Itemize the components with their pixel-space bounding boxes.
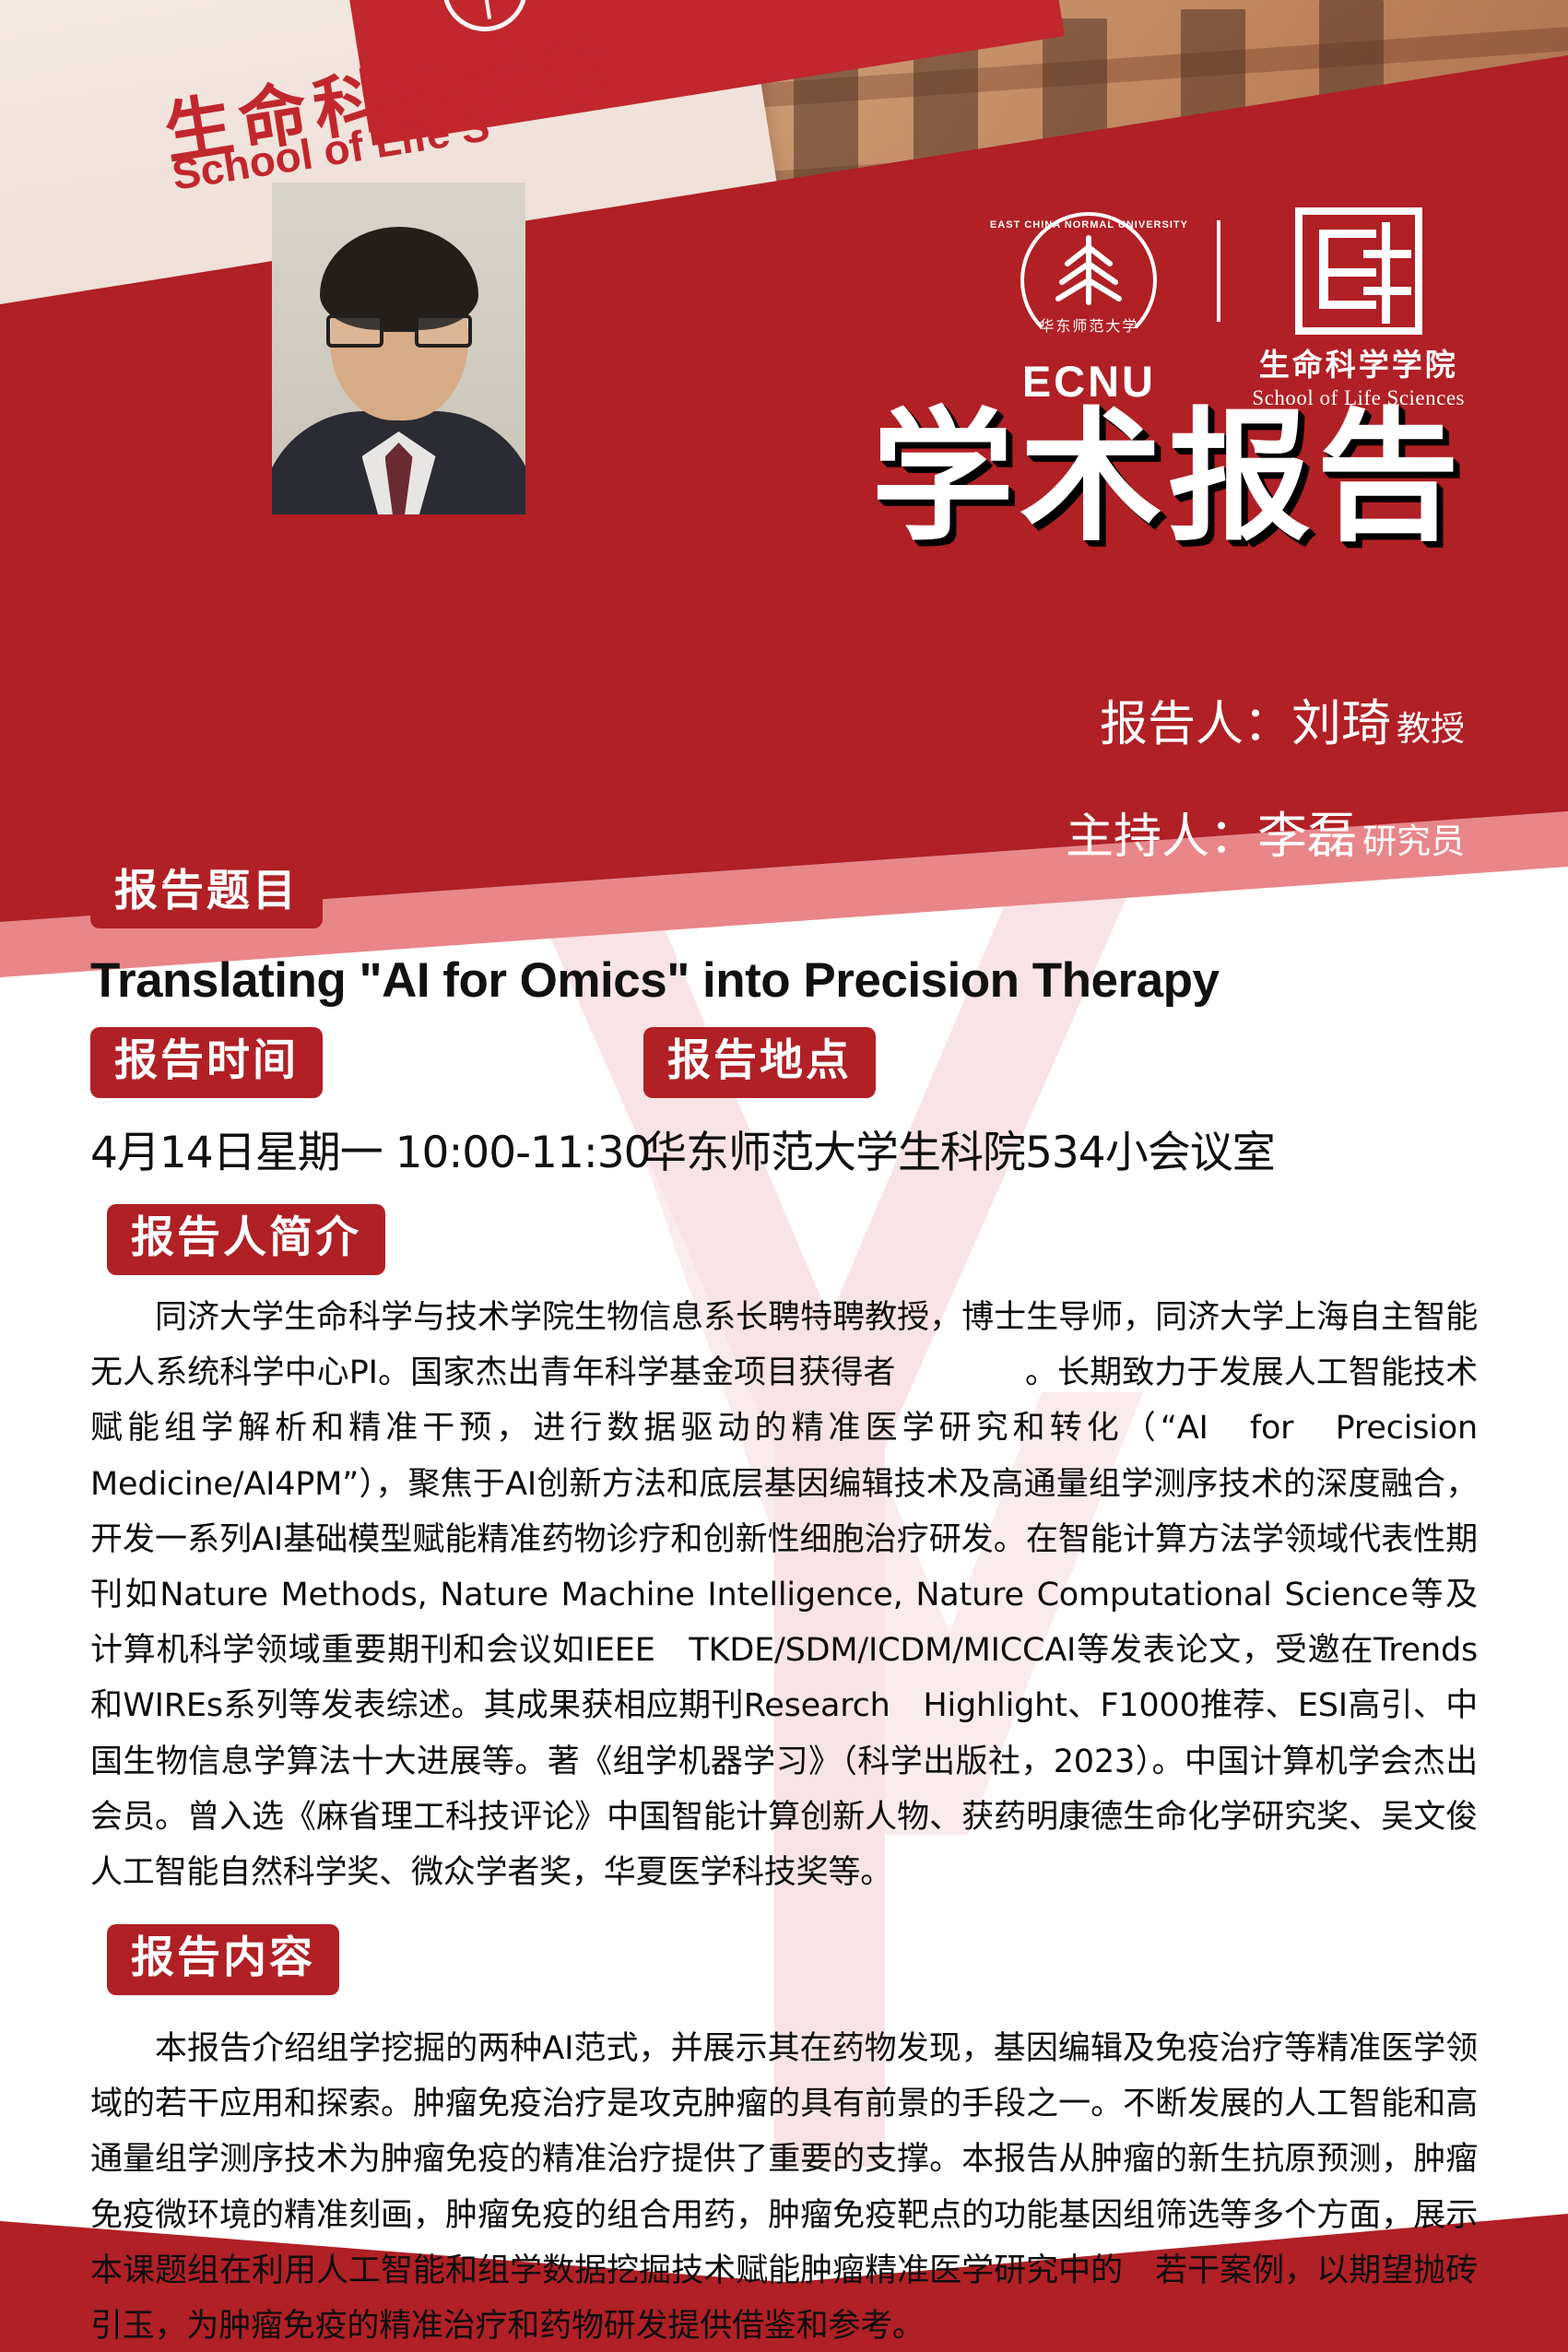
- place-value: 华东师范大学生科院534小会议室: [643, 1117, 1478, 1180]
- logo-divider: [1217, 220, 1220, 322]
- place-section: 报告地点 华东师范大学生科院534小会议室: [643, 1027, 1478, 1180]
- seminar-title: Translating "AI for Omics" into Precisio…: [90, 952, 1478, 1009]
- host-name: 李磊: [1257, 807, 1357, 865]
- speaker-rank: 教授: [1397, 709, 1465, 749]
- ecnu-arc-text: EAST CHINA NORMAL UNIVERSITY: [990, 219, 1188, 230]
- speaker-line: 报告人：刘琦教授: [1100, 682, 1465, 755]
- seminar-poster: 生命科学学院 School of Life S EAST CHINA NORMA…: [0, 0, 1568, 2352]
- bio-badge: 报告人简介: [107, 1204, 385, 1275]
- time-place-row: 报告时间 4月14日星期一 10:00-11:30 报告地点 华东师范大学生科院…: [90, 1027, 1478, 1180]
- bio-section: 报告人简介 同济大学生命科学与技术学院生物信息系长聘特聘教授，博士生导师，同济大…: [90, 1204, 1478, 1900]
- time-section: 报告时间 4月14日星期一 10:00-11:30: [90, 1027, 643, 1180]
- bio-text: 同济大学生命科学与技术学院生物信息系长聘特聘教授，博士生导师，同济大学上海自主智…: [90, 1290, 1478, 1900]
- host-label: 主持人：: [1066, 810, 1257, 865]
- logo-row: EAST CHINA NORMAL UNIVERSITY 华东师范大学 ECNU…: [992, 207, 1465, 410]
- ecnu-seal-chinese: 华东师范大学: [1039, 313, 1138, 336]
- abstract-text: 本报告介绍组学挖掘的两种AI范式，并展示其在药物发现，基因编辑及免疫治疗等精准医…: [90, 2021, 1478, 2352]
- school-name-chinese: 生命科学学院: [1252, 340, 1465, 384]
- school-seal-icon: [1295, 207, 1422, 335]
- page-title: 学术报告: [871, 406, 1465, 549]
- host-line: 主持人：李磊研究员: [1066, 795, 1465, 868]
- time-value: 4月14日星期一 10:00-11:30: [90, 1117, 643, 1180]
- school-of-life-sciences-logo: 生命科学学院 School of Life Sciences: [1252, 207, 1465, 410]
- speaker-name: 刘琦: [1291, 694, 1391, 752]
- glasses-icon: [326, 314, 472, 349]
- host-rank: 研究员: [1362, 821, 1465, 861]
- ecnu-seal-icon: EAST CHINA NORMAL UNIVERSITY 华东师范大学: [1020, 212, 1157, 349]
- abstract-badge: 报告内容: [107, 1924, 339, 1995]
- ecnu-logo: EAST CHINA NORMAL UNIVERSITY 华东师范大学 ECNU: [992, 212, 1185, 407]
- speaker-portrait: [272, 183, 525, 514]
- abstract-section: 报告内容 本报告介绍组学挖掘的两种AI范式，并展示其在药物发现，基因编辑及免疫治…: [90, 1924, 1478, 2352]
- poster-content: 报告题目 Translating "AI for Omics" into Pre…: [0, 857, 1568, 2352]
- ecnu-tree-icon: [1049, 232, 1128, 306]
- topic-badge: 报告题目: [90, 857, 323, 928]
- topic-section: 报告题目 Translating "AI for Omics" into Pre…: [90, 857, 1478, 1009]
- time-badge: 报告时间: [90, 1027, 323, 1098]
- speaker-label: 报告人：: [1100, 697, 1291, 752]
- place-badge: 报告地点: [643, 1027, 876, 1098]
